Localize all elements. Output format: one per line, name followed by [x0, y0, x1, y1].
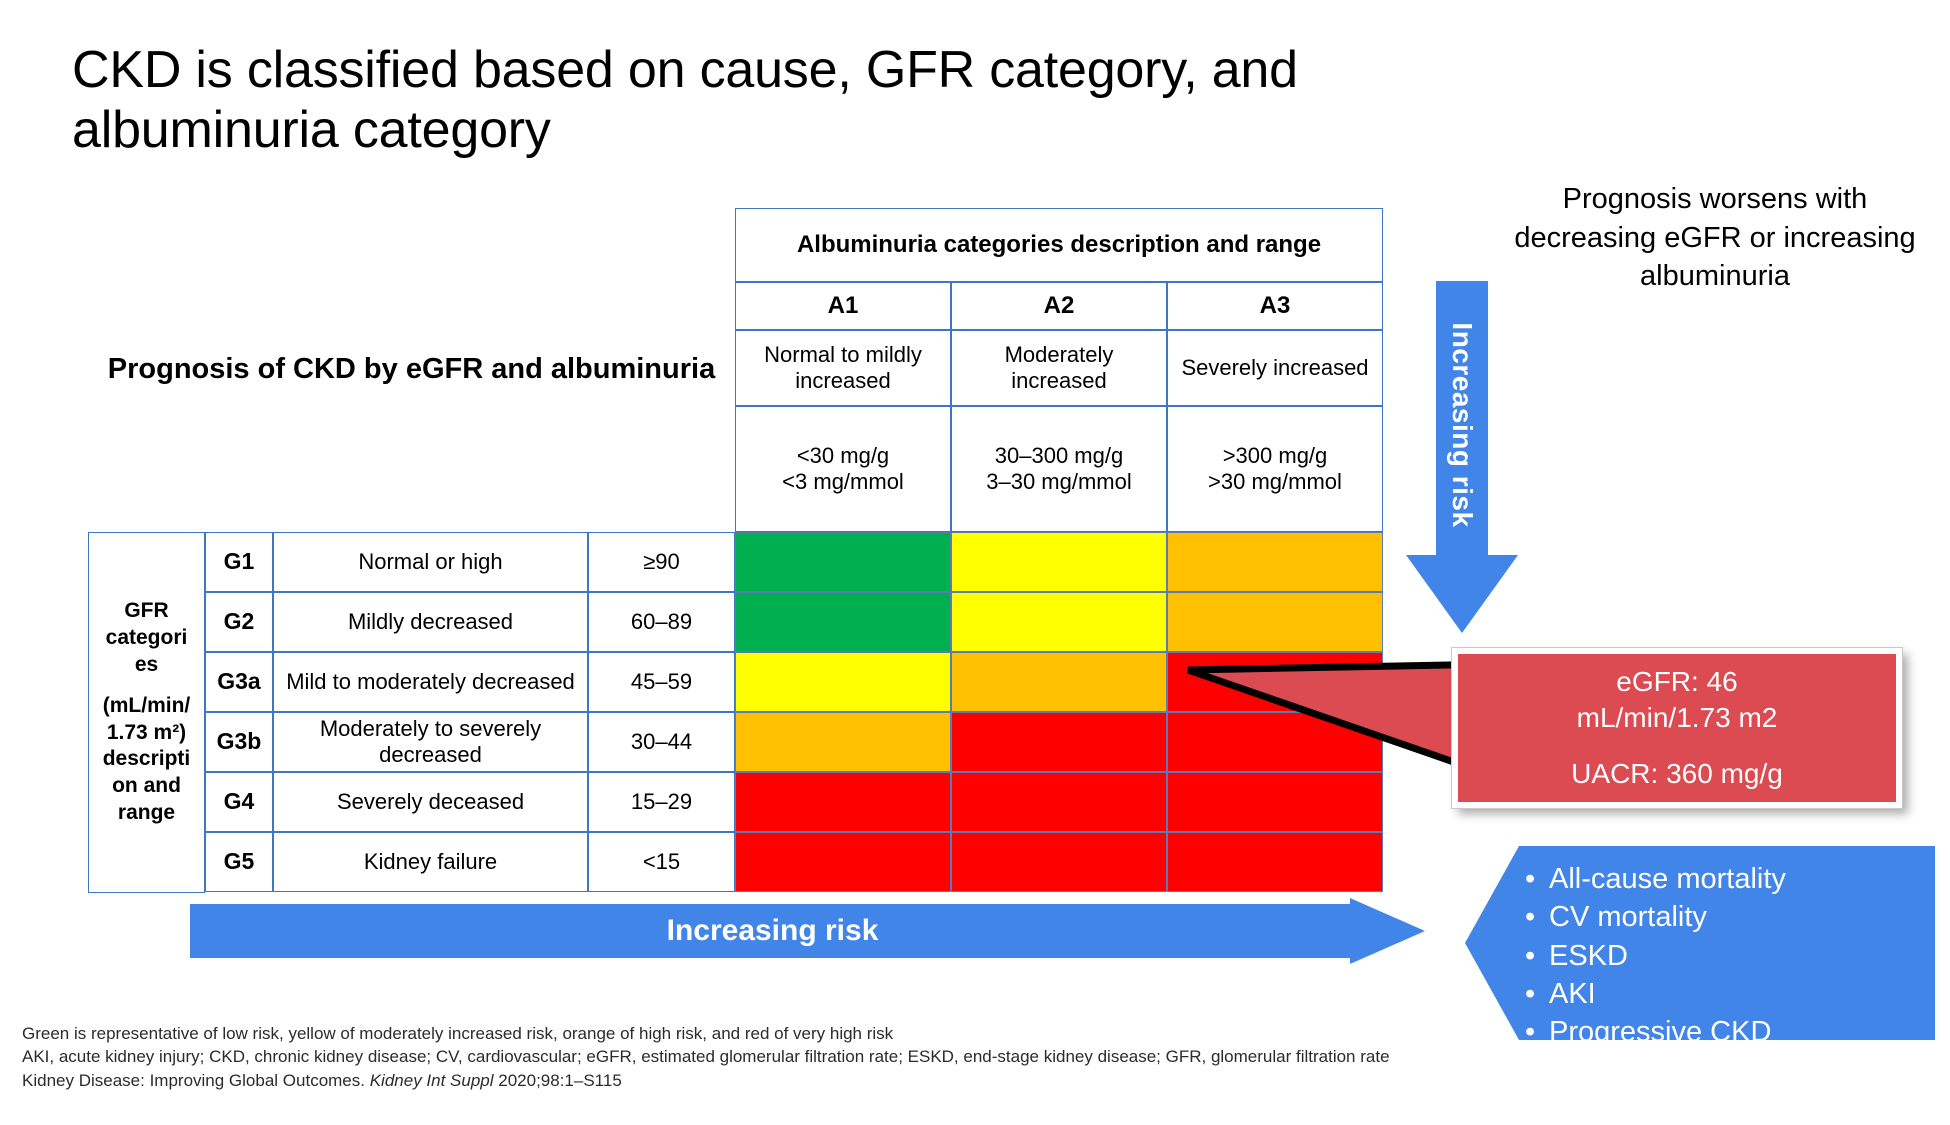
gfr-description-g1: Normal or high	[273, 532, 588, 592]
gfr-label-line: 1.73 m²)	[107, 720, 186, 747]
risk-cell-g2-a1	[735, 592, 951, 652]
gfr-description-g3b: Moderately to severely decreased	[273, 712, 588, 772]
risk-cell-g4-a3	[1167, 772, 1383, 832]
page-title: CKD is classified based on cause, GFR ca…	[72, 40, 1572, 161]
gfr-description-g4: Severely deceased	[273, 772, 588, 832]
albuminuria-code-a2: A2	[951, 282, 1167, 330]
albuminuria-desc-a3: Severely increased	[1167, 330, 1383, 406]
footnote-citation: Kidney Disease: Improving Global Outcome…	[22, 1069, 1642, 1092]
risk-cell-g4-a2	[951, 772, 1167, 832]
risk-cell-g3b-a2	[951, 712, 1167, 772]
gfr-range-g2: 60–89	[588, 592, 735, 652]
albuminuria-group-title: Albuminuria categories description and r…	[735, 208, 1383, 282]
ckd-risk-table: Prognosis of CKD by eGFR and albuminuria…	[88, 208, 1383, 893]
increasing-risk-vertical-arrow: Increasing risk	[1406, 281, 1518, 633]
gfr-code-g1: G1	[205, 532, 273, 592]
risk-cell-g2-a2	[951, 592, 1167, 652]
gfr-code-g4: G4	[205, 772, 273, 832]
slide-canvas: CKD is classified based on cause, GFR ca…	[0, 0, 1950, 1125]
vertical-arrow-label: Increasing risk	[1446, 322, 1478, 527]
gfr-description-g2: Mildly decreased	[273, 592, 588, 652]
risk-cell-g5-a3	[1167, 832, 1383, 892]
outcome-item: All-cause mortality	[1527, 860, 1786, 898]
citation-journal: Kidney Int Suppl	[370, 1071, 494, 1090]
prognosis-header: Prognosis of CKD by eGFR and albuminuria	[88, 208, 735, 532]
gfr-label-line: range	[118, 800, 175, 827]
albuminuria-range-a1: <30 mg/g <3 mg/mmol	[735, 406, 951, 532]
albuminuria-code-a1: A1	[735, 282, 951, 330]
gfr-categories-label: GFRcategories(mL/min/1.73 m²)description…	[88, 532, 205, 893]
footnote-color-legend: Green is representative of low risk, yel…	[22, 1022, 1642, 1045]
risk-cell-g5-a1	[735, 832, 951, 892]
risk-cell-g3b-a3	[1167, 712, 1383, 772]
albuminuria-code-a3: A3	[1167, 282, 1383, 330]
footnote-abbreviations: AKI, acute kidney injury; CKD, chronic k…	[22, 1045, 1642, 1068]
risk-cell-g3b-a1	[735, 712, 951, 772]
risk-cell-g1-a3	[1167, 532, 1383, 592]
risk-cell-g4-a1	[735, 772, 951, 832]
albuminuria-desc-a2: Moderately increased	[951, 330, 1167, 406]
gfr-label-line: on and	[112, 773, 181, 800]
gfr-range-g5: <15	[588, 832, 735, 892]
footnotes: Green is representative of low risk, yel…	[22, 1022, 1642, 1092]
patient-values-callout: eGFR: 46 mL/min/1.73 m2 UACR: 360 mg/g	[1452, 648, 1902, 808]
gfr-description-g3a: Mild to moderately decreased	[273, 652, 588, 712]
horizontal-arrow-label: Increasing risk	[190, 898, 1355, 964]
albuminuria-range-a3: >300 mg/g >30 mg/mmol	[1167, 406, 1383, 532]
gfr-label-line: descripti	[103, 746, 191, 773]
risk-cell-g3a-a1	[735, 652, 951, 712]
outcome-item: AKI	[1527, 975, 1786, 1013]
outcome-item: CV mortality	[1527, 898, 1786, 936]
gfr-range-g1: ≥90	[588, 532, 735, 592]
gfr-label-line: (mL/min/	[103, 693, 191, 720]
prognosis-worsens-text: Prognosis worsens with decreasing eGFR o…	[1505, 180, 1925, 296]
outcome-item: ESKD	[1527, 937, 1786, 975]
albuminuria-desc-a1: Normal to mildly increased	[735, 330, 951, 406]
citation-suffix: 2020;98:1–S115	[494, 1071, 622, 1090]
citation-prefix: Kidney Disease: Improving Global Outcome…	[22, 1071, 370, 1090]
gfr-code-g2: G2	[205, 592, 273, 652]
gfr-code-g3b: G3b	[205, 712, 273, 772]
risk-cell-g1-a2	[951, 532, 1167, 592]
gfr-range-g3a: 45–59	[588, 652, 735, 712]
gfr-code-g5: G5	[205, 832, 273, 892]
gfr-description-g5: Kidney failure	[273, 832, 588, 892]
risk-cell-g3a-a2	[951, 652, 1167, 712]
risk-cell-g1-a1	[735, 532, 951, 592]
albuminuria-range-a2: 30–300 mg/g 3–30 mg/mmol	[951, 406, 1167, 532]
risk-cell-g2-a3	[1167, 592, 1383, 652]
callout-egfr-line1: eGFR: 46	[1616, 664, 1737, 700]
callout-uacr: UACR: 360 mg/g	[1571, 756, 1783, 792]
gfr-code-g3a: G3a	[205, 652, 273, 712]
gfr-label-line: es	[135, 652, 158, 679]
gfr-label-line: categori	[106, 625, 188, 652]
gfr-label-line: GFR	[124, 598, 168, 625]
increasing-risk-horizontal-arrow: Increasing risk	[190, 898, 1425, 964]
callout-egfr-line2: mL/min/1.73 m2	[1577, 700, 1778, 736]
risk-cell-g3a-a3	[1167, 652, 1383, 712]
gfr-range-g4: 15–29	[588, 772, 735, 832]
gfr-range-g3b: 30–44	[588, 712, 735, 772]
outcomes-banner: All-cause mortalityCV mortalityESKDAKIPr…	[1465, 846, 1935, 1040]
risk-cell-g5-a2	[951, 832, 1167, 892]
